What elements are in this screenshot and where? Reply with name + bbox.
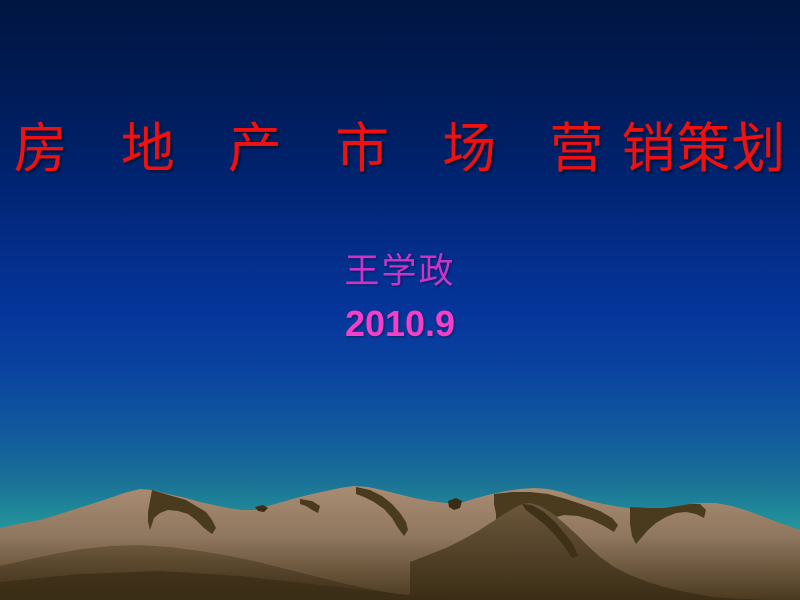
presentation-slide: 房 地 产 市 场 营销策划 王学政 2010.9 [0, 0, 800, 600]
page-title-tight-part: 销策划 [621, 117, 786, 180]
mountain-range-illustration [0, 470, 800, 600]
presentation-date: 2010.9 [0, 303, 800, 345]
page-title-spaced-part: 房 地 产 市 场 营 [14, 117, 622, 180]
subtitle-block: 王学政 2010.9 [0, 250, 800, 345]
author-name: 王学政 [0, 250, 800, 295]
page-title: 房 地 产 市 场 营销策划 [0, 114, 800, 184]
